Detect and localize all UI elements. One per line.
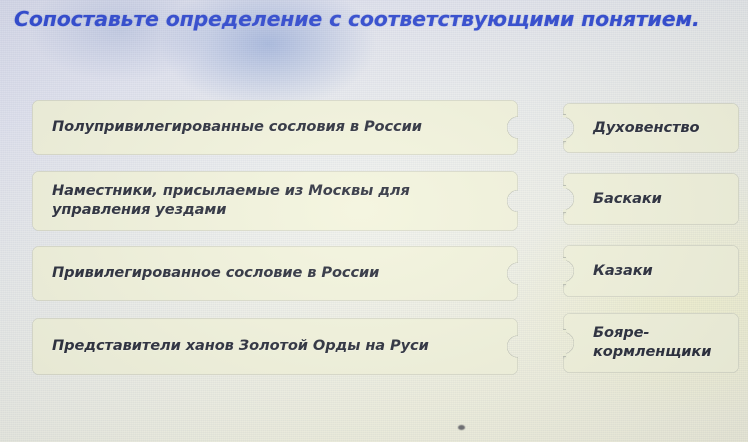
page-title: Сопоставьте определение с соответствующи… bbox=[14, 7, 744, 31]
definition-card-3-label: Привилегированное сословие в России bbox=[52, 264, 474, 283]
concept-card-2-label: Баскаки bbox=[593, 190, 725, 209]
definition-card-4[interactable]: Представители ханов Золотой Орды на Руси bbox=[32, 318, 518, 375]
definition-card-1-label: Полупривилегированные сословия в России bbox=[52, 118, 474, 137]
definition-card-1[interactable]: Полупривилегированные сословия в России bbox=[32, 100, 518, 155]
concept-card-1-label: Духовенство bbox=[593, 119, 725, 138]
screen-dust-speck bbox=[458, 425, 465, 430]
puzzle-tab-icon bbox=[545, 257, 566, 285]
concept-card-1[interactable]: Духовенство bbox=[563, 103, 739, 153]
puzzle-tab-icon bbox=[545, 185, 566, 213]
puzzle-tab-icon bbox=[545, 114, 566, 142]
concept-card-4[interactable]: Бояре- кормленщики bbox=[563, 313, 739, 373]
definition-card-2-label: Наместники, присылаемые из Москвы для уп… bbox=[52, 182, 474, 219]
definition-card-3[interactable]: Привилегированное сословие в России bbox=[32, 246, 518, 301]
concept-card-3-label: Казаки bbox=[593, 262, 725, 281]
puzzle-tab-icon bbox=[545, 329, 566, 357]
concept-card-4-label: Бояре- кормленщики bbox=[593, 324, 725, 361]
concept-card-2[interactable]: Баскаки bbox=[563, 173, 739, 225]
definition-card-2[interactable]: Наместники, присылаемые из Москвы для уп… bbox=[32, 171, 518, 231]
definition-card-4-label: Представители ханов Золотой Орды на Руси bbox=[52, 337, 474, 356]
concept-card-3[interactable]: Казаки bbox=[563, 245, 739, 297]
exercise-screen: Сопоставьте определение с соответствующи… bbox=[0, 0, 748, 442]
